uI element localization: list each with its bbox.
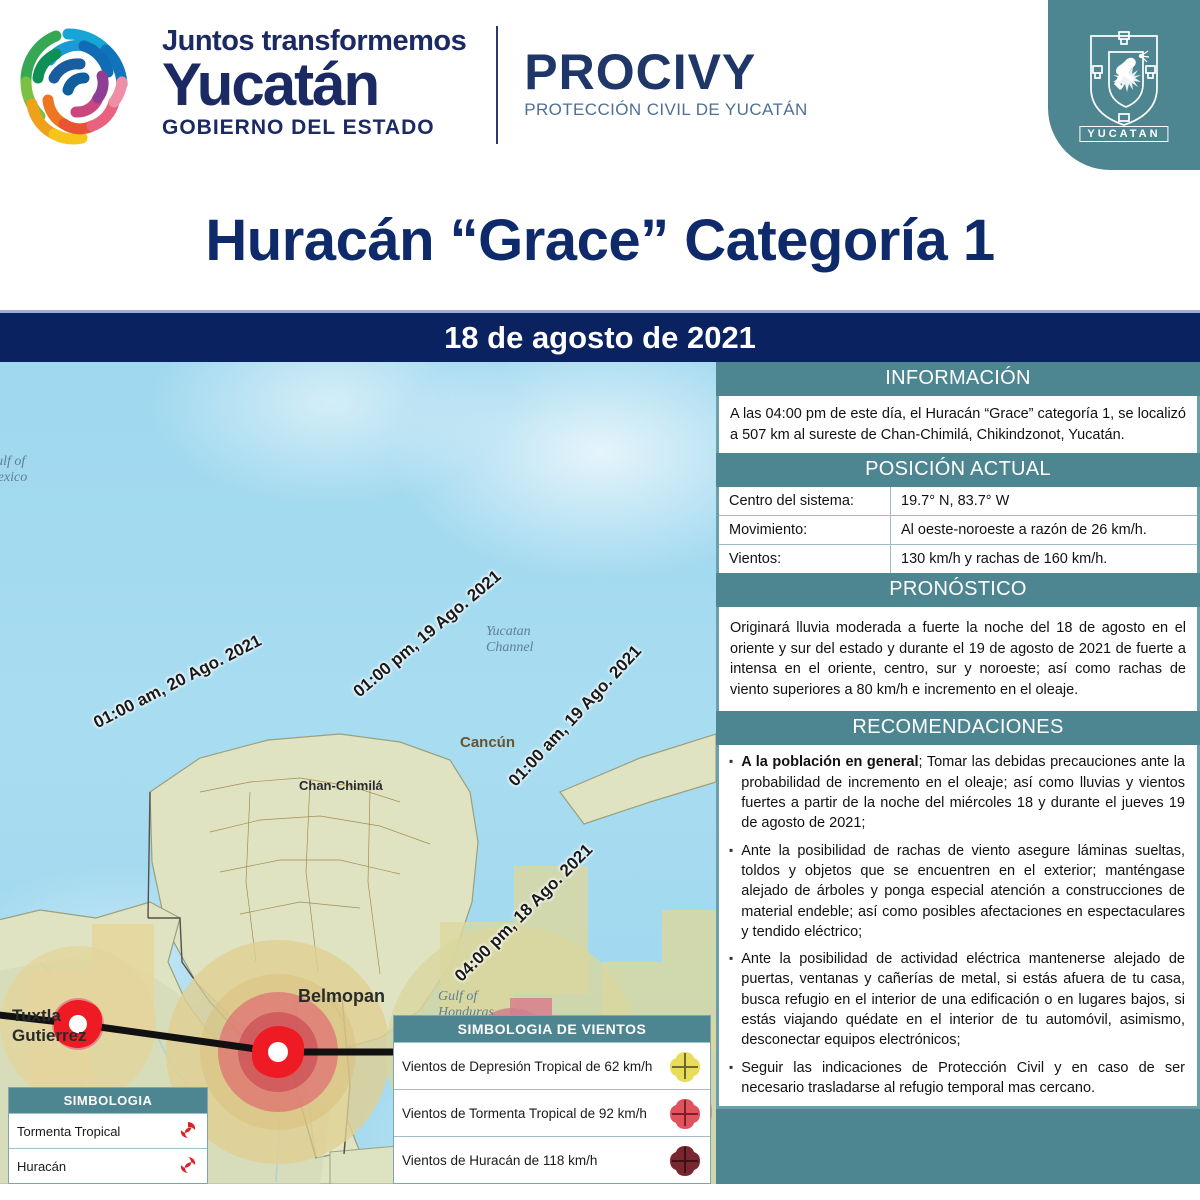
brand-line-2: Yucatán (162, 56, 466, 113)
city-label-tuxtla-gutierrez: TuxtlaGutierrez (12, 1006, 87, 1045)
list-item: ▪ Seguir las indicaciones de Protección … (729, 1058, 1185, 1099)
list-item: ▪ A la población en general; Tomar las d… (729, 752, 1185, 833)
yucatan-logo-icon (10, 20, 150, 150)
row-value: 19.7° N, 83.7° W (891, 487, 1197, 515)
recommendation-text: Seguir las indicaciones de Protección Ci… (741, 1058, 1185, 1099)
bullet-icon: ▪ (729, 752, 741, 833)
list-item: ▪ Ante la posibilidad de actividad eléct… (729, 949, 1185, 1050)
agency-name: PROCIVY (524, 47, 807, 97)
wind-quadrant-yellow-icon (668, 1050, 702, 1082)
section-heading-recomendaciones: RECOMENDACIONES (716, 711, 1200, 745)
informacion-text: A las 04:00 pm de este día, el Huracán “… (716, 396, 1200, 453)
recommendation-lead: A la población en general (741, 754, 918, 770)
legend-row-depresion-tropical: Vientos de Depresión Tropical de 62 km/h (394, 1042, 710, 1089)
table-row: Movimiento: Al oeste-noroeste a razón de… (719, 516, 1197, 545)
bullet-icon: ▪ (729, 841, 741, 942)
posicion-actual-table: Centro del sistema: 19.7° N, 83.7° W Mov… (716, 487, 1200, 573)
header-divider (496, 26, 498, 144)
hurricane-icon (177, 1154, 199, 1178)
row-value: Al oeste-noroeste a razón de 26 km/h. (891, 516, 1197, 544)
legend-simbologia-vientos: SIMBOLOGIA DE VIENTOS Vientos de Depresi… (393, 1015, 711, 1184)
yucatan-coat-of-arms-icon (1081, 26, 1167, 130)
row-key: Vientos: (719, 545, 891, 573)
section-heading-pronostico: PRONÓSTICO (716, 573, 1200, 607)
agency-block: PROCIVY PROTECCIÓN CIVIL DE YUCATÁN (524, 47, 807, 123)
date-text: 18 de agosto de 2021 (444, 320, 756, 356)
wind-quadrant-red-icon (668, 1097, 702, 1129)
legend-label: Vientos de Depresión Tropical de 62 km/h (402, 1059, 652, 1074)
legend-label: Vientos de Tormenta Tropical de 92 km/h (402, 1106, 647, 1121)
infographic-page: Juntos transformemos Yucatán GOBIERNO DE… (0, 0, 1200, 1200)
legend-simbologia: SIMBOLOGIA Tormenta Tropical Huracán (8, 1087, 208, 1184)
row-value: 130 km/h y rachas de 160 km/h. (891, 545, 1197, 573)
city-label-belmopan: Belmopan (298, 986, 385, 1007)
row-key: Centro del sistema: (719, 487, 891, 515)
track-marker-2 (252, 1026, 304, 1078)
section-heading-posicion-actual: POSICIÓN ACTUAL (716, 453, 1200, 487)
title-section: Huracán “Grace” Categoría 1 (0, 170, 1200, 310)
agency-subtitle: PROTECCIÓN CIVIL DE YUCATÁN (524, 97, 807, 123)
tropical-storm-icon (177, 1119, 199, 1143)
page-title: Huracán “Grace” Categoría 1 (205, 207, 994, 274)
recommendation-text: Ante la posibilidad de rachas de viento … (741, 841, 1185, 942)
legend-vientos-title: SIMBOLOGIA DE VIENTOS (394, 1016, 710, 1042)
brand-text: Juntos transformemos Yucatán GOBIERNO DE… (162, 27, 466, 142)
date-band: 18 de agosto de 2021 (0, 310, 1200, 362)
wind-quadrant-darkred-icon (668, 1144, 702, 1176)
legend-label: Huracán (17, 1159, 66, 1174)
legend-row-huracan-viento: Vientos de Huracán de 118 km/h (394, 1136, 710, 1183)
info-panel: INFORMACIÓN A las 04:00 pm de este día, … (716, 362, 1200, 1184)
legend-row-huracan: Huracán (9, 1148, 207, 1183)
city-label-chan-chimila: Chan-Chimilá (299, 779, 383, 794)
legend-row-tormenta-tropical: Tormenta Tropical (9, 1113, 207, 1148)
legend-row-tormenta-tropical-viento: Vientos de Tormenta Tropical de 92 km/h (394, 1089, 710, 1136)
legend-label: Vientos de Huracán de 118 km/h (402, 1153, 597, 1168)
city-label-cancun: Cancún (460, 734, 515, 751)
legend-simbologia-title: SIMBOLOGIA (9, 1088, 207, 1113)
row-key: Movimiento: (719, 516, 891, 544)
recommendation-text: A la población en general; Tomar las deb… (741, 752, 1185, 833)
bullet-icon: ▪ (729, 1058, 741, 1099)
section-heading-informacion: INFORMACIÓN (716, 362, 1200, 396)
hurricane-track-map[interactable]: 01:00 am, 20 Ago. 2021 01:00 pm, 19 Ago.… (0, 362, 716, 1184)
recomendaciones-list: ▪ A la población en general; Tomar las d… (716, 745, 1200, 1109)
table-row: Vientos: 130 km/h y rachas de 160 km/h. (719, 545, 1197, 573)
list-item: ▪ Ante la posibilidad de rachas de vient… (729, 841, 1185, 942)
crest-panel: YUCATAN (1048, 0, 1200, 170)
table-row: Centro del sistema: 19.7° N, 83.7° W (719, 487, 1197, 516)
recommendation-text: Ante la posibilidad de actividad eléctri… (741, 949, 1185, 1050)
crest-wordmark: YUCATAN (1079, 126, 1168, 142)
pronostico-text: Originará lluvia moderada a fuerte la no… (716, 607, 1200, 711)
body-split: 01:00 am, 20 Ago. 2021 01:00 pm, 19 Ago.… (0, 362, 1200, 1184)
brand-line-3: GOBIERNO DEL ESTADO (162, 113, 466, 142)
bullet-icon: ▪ (729, 949, 741, 1050)
page-header: Juntos transformemos Yucatán GOBIERNO DE… (0, 0, 1200, 170)
legend-label: Tormenta Tropical (17, 1124, 120, 1139)
brand-row: Juntos transformemos Yucatán GOBIERNO DE… (0, 0, 1200, 170)
